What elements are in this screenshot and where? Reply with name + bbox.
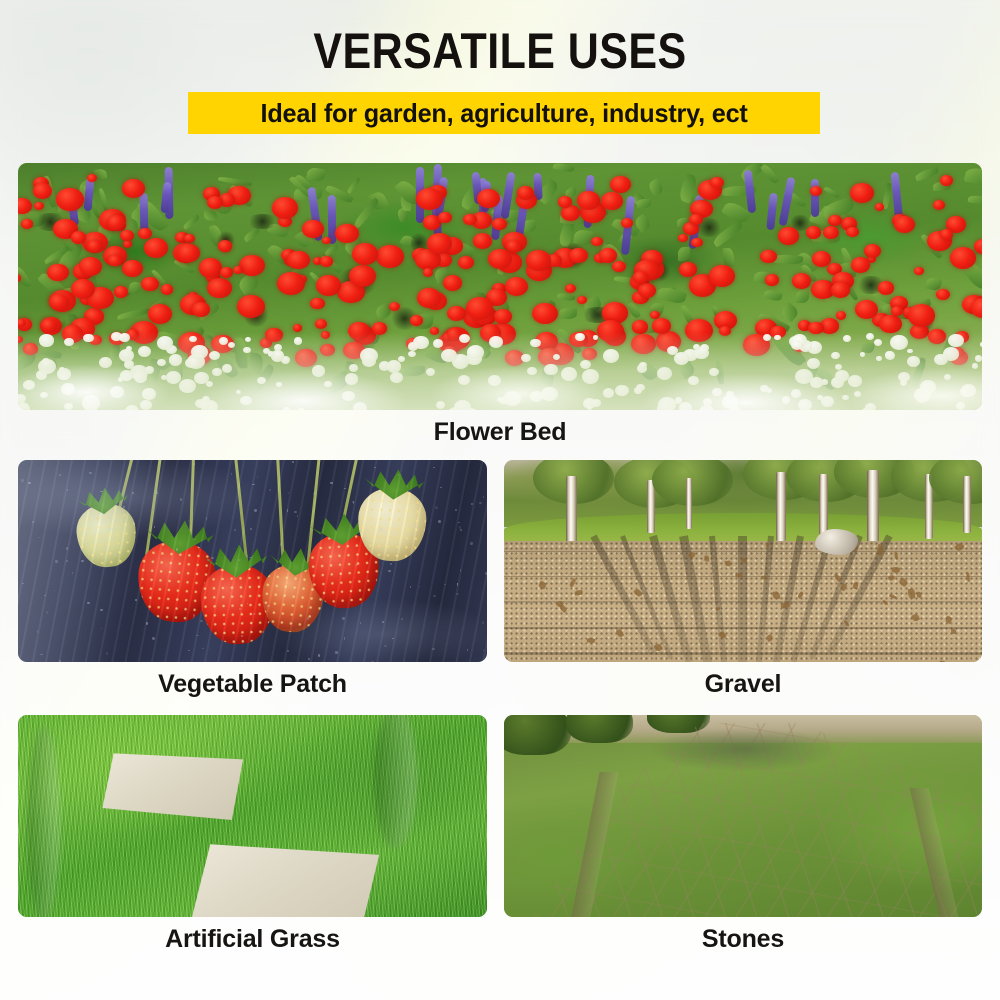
infographic-page: VERSATILE USES Ideal for garden, agricul… (0, 0, 1000, 1000)
image-stones (504, 715, 982, 917)
gravel-scene (504, 460, 982, 662)
artificial-grass-scene (18, 715, 487, 917)
image-artificial-grass (18, 715, 487, 917)
subtitle-text: Ideal for garden, agriculture, industry,… (260, 98, 747, 129)
flower-bed-scene (18, 163, 982, 410)
image-gravel (504, 460, 982, 662)
image-vegetable-patch (18, 460, 487, 662)
subtitle-banner: Ideal for garden, agriculture, industry,… (188, 92, 820, 134)
caption-vegetable-patch: Vegetable Patch (18, 670, 487, 699)
stones-scene (504, 715, 982, 917)
caption-flower-bed: Flower Bed (0, 418, 1000, 447)
image-flower-bed (18, 163, 982, 410)
caption-artificial-grass: Artificial Grass (18, 925, 487, 954)
caption-gravel: Gravel (504, 670, 982, 699)
caption-stones: Stones (504, 925, 982, 954)
vegetable-patch-scene (18, 460, 487, 662)
page-title: VERSATILE USES (70, 22, 930, 80)
